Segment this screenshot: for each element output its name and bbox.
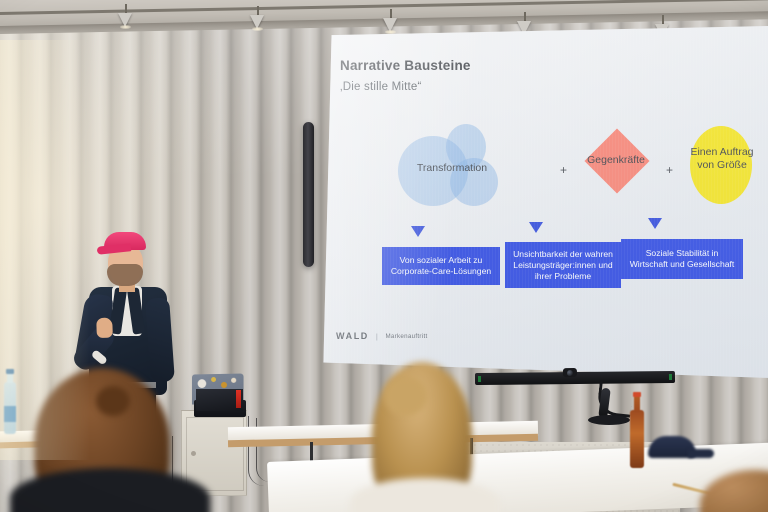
microphone-base	[588, 415, 630, 425]
water-bottle	[4, 382, 16, 434]
slide-subtitle: ‚Die stille Mitte“	[340, 81, 422, 93]
presenter-arm-right	[145, 297, 175, 382]
wall-speaker	[303, 122, 314, 267]
audience-hair-bun-center	[384, 376, 428, 416]
outcome-box-2: Unsichtbarkeit der wahren Leistungsträge…	[505, 242, 621, 288]
camera-icon	[567, 370, 573, 376]
brown-bottle-cap	[633, 392, 641, 397]
bottle-neck	[7, 373, 13, 383]
video-conference-bar	[475, 371, 675, 385]
bottle-cap	[6, 369, 14, 374]
auftrag-label-line1: Einen Auftrag	[690, 146, 753, 158]
status-led-right	[669, 374, 672, 380]
laptop-sticker	[198, 379, 207, 388]
presenter-hand	[96, 318, 113, 339]
laptop-accent-strip	[236, 390, 241, 408]
slide-title: Narrative Bausteine	[340, 58, 471, 73]
footer-tag: Markenauftritt	[385, 333, 427, 340]
down-arrow-icon-1	[411, 226, 425, 237]
navy-cap-brim	[688, 449, 714, 458]
auftrag-ellipse: Einen Auftrag von Größe	[678, 124, 766, 216]
cabinet-lock-icon	[191, 451, 196, 456]
brown-bottle-neck	[634, 396, 640, 412]
transformation-label: Transformation	[396, 162, 508, 174]
audience-hair-bun-left	[96, 386, 130, 416]
plus-operator-2: +	[666, 163, 673, 177]
brown-bottle	[630, 410, 644, 468]
slide-content: Narrative Bausteine ‚Die stille Mitte“ T…	[318, 26, 768, 378]
laptop-sticker	[221, 382, 227, 388]
laptop-sticker	[211, 377, 216, 382]
status-led-left	[478, 376, 481, 382]
down-arrow-icon-2	[529, 222, 543, 233]
projection-screen: Narrative Bausteine ‚Die stille Mitte“ T…	[318, 26, 768, 378]
outcome-box-3: Soziale Stabilität in Wirtschaft und Ges…	[621, 239, 743, 279]
gegenkraefte-diamond: Gegenkräfte	[576, 134, 656, 206]
brand-logo: WALD	[336, 331, 369, 341]
auftrag-label-line2: von Größe	[697, 159, 747, 171]
transformation-circles: Transformation	[398, 122, 506, 218]
footer-separator: |	[376, 332, 379, 341]
slide-footer: WALD | Markenauftritt	[336, 331, 428, 341]
bottle-label	[4, 406, 16, 422]
down-arrow-icon-3	[648, 218, 662, 229]
presentation-photo-scene: Narrative Bausteine ‚Die stille Mitte“ T…	[0, 0, 768, 512]
gegenkraefte-label: Gegenkräfte	[560, 154, 672, 166]
presenter-beard	[107, 264, 143, 286]
laptop-sticker	[231, 378, 236, 383]
concept-shape-row: Transformation + Gegenkräfte + Einen Auf…	[378, 122, 758, 218]
outcome-box-1: Von sozialer Arbeit zu Corporate-Care-Lö…	[382, 247, 500, 285]
auftrag-label: Einen Auftrag von Größe	[674, 146, 768, 172]
